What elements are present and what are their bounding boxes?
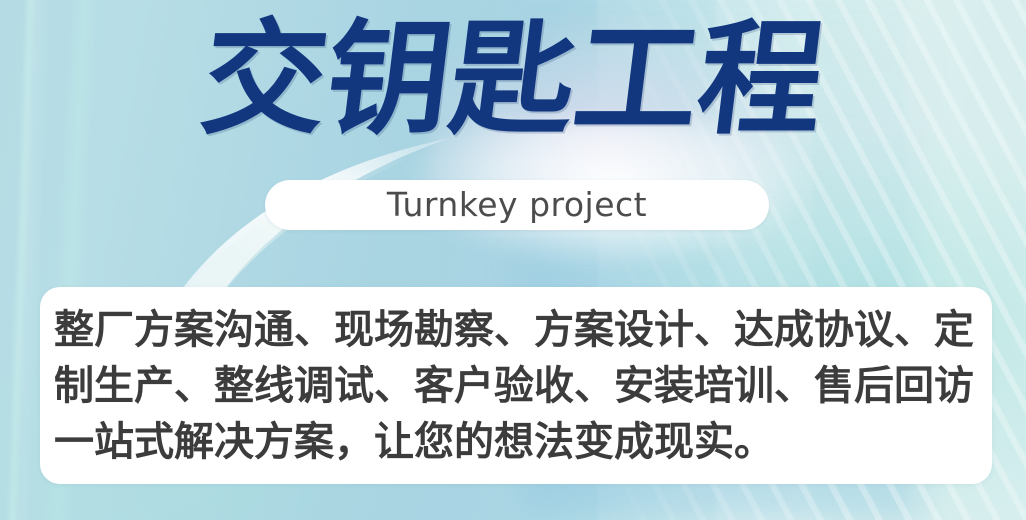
description-text: 整厂方案沟通、现场勘察、方案设计、达成协议、定制生产、整线调试、客户验收、安装培… bbox=[54, 302, 978, 470]
subtitle-pill: Turnkey project bbox=[265, 180, 769, 230]
subtitle-text: Turnkey project bbox=[387, 188, 647, 223]
description-card: 整厂方案沟通、现场勘察、方案设计、达成协议、定制生产、整线调试、客户验收、安装培… bbox=[40, 287, 992, 484]
page-title: 交钥匙工程 bbox=[0, 14, 1026, 146]
turnkey-project-banner: 交钥匙工程 Turnkey project 整厂方案沟通、现场勘察、方案设计、达… bbox=[0, 0, 1026, 520]
